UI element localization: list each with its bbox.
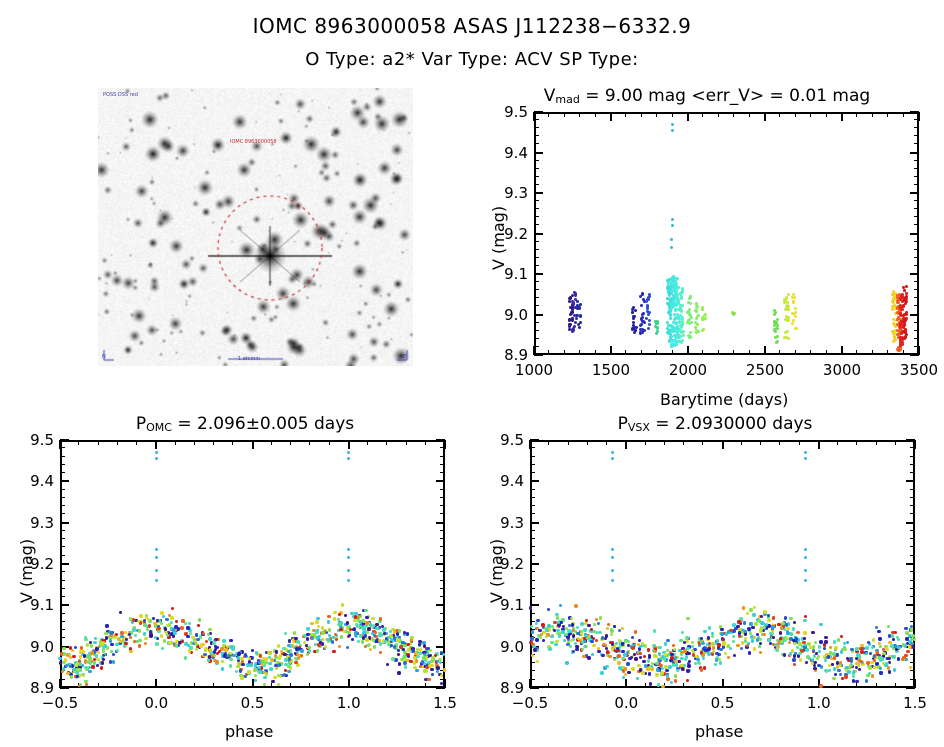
axis-minor-tick <box>910 472 915 473</box>
phase-point <box>143 619 146 622</box>
phase-point <box>143 632 146 635</box>
axis-minor-tick <box>534 330 539 331</box>
phase-point <box>840 650 843 653</box>
phase-point <box>379 617 382 620</box>
axis-minor-tick <box>810 112 811 117</box>
phase-point <box>803 646 806 649</box>
phase-point <box>811 631 814 634</box>
lightcurve-point <box>575 317 578 320</box>
axis-minor-tick <box>914 119 919 120</box>
phase-point <box>91 665 94 668</box>
phase-point <box>868 666 871 669</box>
phase-point <box>75 663 78 666</box>
phase-point <box>268 662 271 665</box>
axis-minor-tick <box>914 176 919 177</box>
axis-minor-tick <box>914 160 919 161</box>
axis-minor-tick <box>440 513 445 514</box>
phase-point <box>819 640 822 643</box>
phase-point <box>213 650 216 653</box>
phase-point <box>132 618 135 621</box>
phase-point <box>416 655 419 658</box>
phase-point <box>69 656 72 659</box>
phase-point <box>648 666 651 669</box>
lightcurve-point <box>682 330 685 333</box>
axis-minor-tick <box>534 216 539 217</box>
axis-minor-tick <box>579 112 580 117</box>
axis-minor-tick <box>914 127 919 128</box>
phase-point <box>776 646 779 649</box>
axis-minor-tick <box>914 216 919 217</box>
axis-tick <box>155 679 157 688</box>
phase-point <box>707 652 710 655</box>
axis-minor-tick <box>914 346 919 347</box>
axis-minor-tick <box>530 456 535 457</box>
phase-point <box>125 638 128 641</box>
phase-point <box>406 632 409 635</box>
axis-minor-tick <box>60 464 65 465</box>
axis-tick <box>60 522 69 524</box>
axis-minor-tick <box>664 440 665 445</box>
phase-point <box>703 630 706 633</box>
axis-minor-tick <box>530 662 535 663</box>
phase-point <box>138 629 141 632</box>
axis-minor-tick <box>60 456 65 457</box>
phase-point <box>617 654 620 657</box>
phase-point <box>288 657 291 660</box>
phase-point <box>287 670 290 673</box>
phase-point <box>702 653 705 656</box>
axis-tick <box>910 354 919 356</box>
phase-point <box>120 635 123 638</box>
axis-minor-tick <box>625 112 626 117</box>
phase-point <box>658 652 661 655</box>
axis-minor-tick <box>534 208 539 209</box>
phase-point <box>165 618 168 621</box>
lightcurve-point <box>655 332 658 335</box>
axis-minor-tick <box>60 513 65 514</box>
phase-point <box>865 646 868 649</box>
lightcurve-point <box>632 327 635 330</box>
phase-point <box>860 650 863 653</box>
axis-tick <box>530 480 539 482</box>
axis-minor-tick <box>914 330 919 331</box>
phase-point <box>86 643 89 646</box>
phase-point <box>644 644 647 647</box>
phase-point <box>277 644 280 647</box>
axis-minor-tick <box>595 350 596 355</box>
y-tick-label: 9.0 <box>16 638 54 656</box>
axis-minor-tick <box>826 112 827 117</box>
phase-point <box>90 644 93 647</box>
phase-point <box>310 622 313 625</box>
phase-point <box>170 641 173 644</box>
phase-point <box>621 657 624 660</box>
phase-point <box>340 635 343 638</box>
phase-point <box>715 652 718 655</box>
phase-point <box>729 629 732 632</box>
phase-point <box>681 667 684 670</box>
axis-tick <box>610 112 612 121</box>
axis-tick <box>534 111 543 113</box>
phase-point <box>849 657 852 660</box>
phase-point <box>621 642 624 645</box>
axis-minor-tick <box>895 683 896 688</box>
phase-point <box>798 652 801 655</box>
phase-point <box>404 665 407 668</box>
axis-minor-tick <box>232 683 233 688</box>
phase-point <box>258 671 261 674</box>
axis-minor-tick <box>579 350 580 355</box>
phase-point <box>403 658 406 661</box>
phase-point <box>157 627 160 630</box>
lightcurve-point <box>897 349 900 352</box>
phase-point <box>732 623 735 626</box>
phase-point <box>577 637 580 640</box>
phase-outlier-point <box>347 569 350 572</box>
phase-point <box>311 636 314 639</box>
axis-minor-tick <box>406 683 407 688</box>
phase-point <box>545 629 548 632</box>
axis-minor-tick <box>910 546 915 547</box>
y-tick-label: 8.9 <box>486 679 524 697</box>
phase-point <box>852 671 855 674</box>
phase-point <box>627 671 630 674</box>
axis-minor-tick <box>910 588 915 589</box>
axis-tick <box>60 480 69 482</box>
axis-minor-tick <box>213 440 214 445</box>
lightcurve-title-v: V <box>544 86 556 106</box>
axis-tick <box>436 480 445 482</box>
axis-minor-tick <box>741 440 742 445</box>
axis-minor-tick <box>910 530 915 531</box>
lightcurve-point <box>680 297 683 300</box>
phase-point <box>82 674 85 677</box>
phase-point <box>892 638 895 641</box>
phase-point <box>656 669 659 672</box>
axis-minor-tick <box>564 350 565 355</box>
phase-point <box>365 616 368 619</box>
x-tick-label: 1.0 <box>797 694 841 712</box>
phase-point <box>652 644 655 647</box>
phase-point <box>208 628 211 631</box>
phase-point <box>909 666 912 669</box>
axis-minor-tick <box>406 440 407 445</box>
lightcurve-point <box>787 337 790 340</box>
y-tick-label: 9.1 <box>486 596 524 614</box>
phase-point <box>419 665 422 668</box>
phase-point <box>427 678 430 681</box>
phase-point <box>789 652 792 655</box>
axis-tick <box>625 440 627 449</box>
lightcurve-point <box>572 302 575 305</box>
phase-point <box>839 673 842 676</box>
phase-point <box>648 654 651 657</box>
axis-minor-tick <box>914 241 919 242</box>
axis-minor-tick <box>440 621 445 622</box>
phase-point <box>811 658 814 661</box>
axis-minor-tick <box>530 505 535 506</box>
phase-point <box>128 633 131 636</box>
phase-point <box>263 676 266 679</box>
axis-minor-tick <box>534 305 539 306</box>
phase-point <box>617 661 620 664</box>
phase-point <box>680 664 683 667</box>
axis-minor-tick <box>60 629 65 630</box>
phase-point <box>391 657 394 660</box>
phase-point <box>100 666 103 669</box>
phase-point <box>440 651 443 654</box>
phase-point <box>758 619 761 622</box>
phase-point <box>296 640 299 643</box>
axis-tick <box>60 604 69 606</box>
phase-point <box>674 679 677 682</box>
phase-point <box>813 667 816 670</box>
phase-point <box>204 647 207 650</box>
phase-omc-title-p-sub: OMC <box>146 421 172 434</box>
phase-point <box>666 677 669 680</box>
phase-point <box>641 671 644 674</box>
axis-tick <box>436 563 445 565</box>
phase-point <box>605 665 608 668</box>
phase-point <box>873 666 876 669</box>
lightcurve-point <box>899 307 902 310</box>
phase-point <box>188 622 191 625</box>
phase-point <box>908 645 911 648</box>
lightcurve-point <box>904 330 907 333</box>
axis-minor-tick <box>367 683 368 688</box>
phase-point <box>538 629 541 632</box>
phase-point <box>208 637 211 640</box>
phase-point <box>174 625 177 628</box>
axis-minor-tick <box>914 168 919 169</box>
axis-minor-tick <box>856 350 857 355</box>
phase-point <box>672 663 675 666</box>
phase-omc-title-rest: = 2.096±0.005 days <box>172 414 354 434</box>
axis-minor-tick <box>910 447 915 448</box>
lightcurve-point <box>639 324 642 327</box>
axis-minor-tick <box>625 350 626 355</box>
phase-point <box>580 632 583 635</box>
phase-point <box>884 645 887 648</box>
phase-point <box>550 635 553 638</box>
axis-minor-tick <box>232 440 233 445</box>
phase-point <box>703 666 706 669</box>
lightcurve-point <box>682 334 685 337</box>
axis-minor-tick <box>548 112 549 117</box>
phase-point <box>231 646 234 649</box>
phase-point <box>324 645 327 648</box>
phase-point <box>608 655 611 658</box>
sky-image-panel: POSS DSS red IOMC 8963000058 N E 1 arcmi… <box>98 88 413 366</box>
phase-point <box>384 640 387 643</box>
phase-point <box>163 639 166 642</box>
axis-tick <box>530 522 539 524</box>
phase-point <box>93 641 96 644</box>
lightcurve-outlier-point <box>671 224 674 227</box>
phase-point <box>719 661 722 664</box>
axis-tick <box>910 192 919 194</box>
phase-point <box>655 662 658 665</box>
axis-tick <box>625 679 627 688</box>
axis-minor-tick <box>60 505 65 506</box>
phase-point <box>888 670 891 673</box>
phase-point <box>743 621 746 624</box>
phase-point <box>701 642 704 645</box>
lightcurve-point <box>786 304 789 307</box>
phase-point <box>273 676 276 679</box>
axis-minor-tick <box>779 112 780 117</box>
axis-minor-tick <box>440 489 445 490</box>
phase-point <box>819 684 822 687</box>
lightcurve-frame <box>534 112 919 355</box>
axis-minor-tick <box>271 683 272 688</box>
sky-image-n-label: N <box>102 354 106 360</box>
phase-point <box>658 646 661 649</box>
y-tick-label: 9.0 <box>490 306 528 324</box>
axis-minor-tick <box>910 513 915 514</box>
axis-minor-tick <box>645 440 646 445</box>
phase-point <box>803 637 806 640</box>
lightcurve-point <box>579 321 582 324</box>
phase-point <box>79 662 82 665</box>
axis-minor-tick <box>98 440 99 445</box>
axis-minor-tick <box>760 683 761 688</box>
axis-minor-tick <box>440 555 445 556</box>
phase-point <box>587 656 590 659</box>
sky-image-corner-label: POSS DSS red <box>103 92 138 98</box>
axis-minor-tick <box>914 135 919 136</box>
x-tick-label: 2500 <box>743 361 787 379</box>
phase-point <box>749 608 752 611</box>
phase-point <box>789 617 792 620</box>
lightcurve-point <box>787 308 790 311</box>
phase-point <box>844 675 847 678</box>
phase-point <box>105 624 108 627</box>
phase-point <box>824 636 827 639</box>
phase-point <box>106 646 109 649</box>
axis-minor-tick <box>440 530 445 531</box>
axis-minor-tick <box>440 679 445 680</box>
lightcurve-point <box>689 335 692 338</box>
phase-point <box>407 648 410 651</box>
phase-point <box>338 622 341 625</box>
axis-minor-tick <box>60 447 65 448</box>
axis-tick <box>687 346 689 355</box>
axis-minor-tick <box>914 297 919 298</box>
axis-tick <box>818 440 820 449</box>
axis-minor-tick <box>117 683 118 688</box>
phase-point <box>212 642 215 645</box>
phase-point <box>333 617 336 620</box>
lightcurve-point <box>899 336 902 339</box>
phase-point <box>365 638 368 641</box>
phase-point <box>817 664 820 667</box>
axis-tick <box>252 440 254 449</box>
axis-tick <box>436 522 445 524</box>
axis-minor-tick <box>914 208 919 209</box>
x-tick-label: 3500 <box>897 361 941 379</box>
axis-tick <box>610 346 612 355</box>
phase-point <box>144 642 147 645</box>
phase-point <box>631 667 634 670</box>
axis-minor-tick <box>810 350 811 355</box>
axis-minor-tick <box>914 257 919 258</box>
phase-point <box>628 657 631 660</box>
y-tick-label: 9.4 <box>16 472 54 490</box>
axis-minor-tick <box>386 440 387 445</box>
phase-point <box>375 627 378 630</box>
phase-point <box>180 626 183 629</box>
axis-minor-tick <box>645 683 646 688</box>
axis-minor-tick <box>60 613 65 614</box>
phase-point <box>833 656 836 659</box>
axis-tick <box>687 112 689 121</box>
axis-minor-tick <box>795 350 796 355</box>
axis-minor-tick <box>440 637 445 638</box>
phase-point <box>71 649 74 652</box>
axis-minor-tick <box>440 629 445 630</box>
phase-outlier-point <box>155 451 158 454</box>
phase-point <box>94 637 97 640</box>
axis-minor-tick <box>60 588 65 589</box>
phase-point <box>832 677 835 680</box>
lightcurve-title: Vmad = 9.00 mag <err_V> = 0.01 mag <box>492 86 922 106</box>
phase-point <box>199 645 202 648</box>
lightcurve-point <box>679 307 682 310</box>
axis-minor-tick <box>534 265 539 266</box>
axis-minor-tick <box>910 670 915 671</box>
phase-point <box>287 650 290 653</box>
phase-point <box>559 604 562 607</box>
phase-point <box>86 654 89 657</box>
phase-point <box>756 638 759 641</box>
x-tick-label: 0.5 <box>701 694 745 712</box>
phase-point <box>655 673 658 676</box>
axis-tick <box>910 273 919 275</box>
lightcurve-point <box>687 310 690 313</box>
axis-minor-tick <box>60 555 65 556</box>
phase-point <box>535 638 538 641</box>
phase-point <box>592 644 595 647</box>
y-tick-label: 9.2 <box>16 555 54 573</box>
lightcurve-point <box>578 306 581 309</box>
phase-point <box>818 645 821 648</box>
phase-point <box>331 636 334 639</box>
phase-point <box>229 664 232 667</box>
phase-point <box>647 659 650 662</box>
page-subtitle: O Type: a2* Var Type: ACV SP Type: <box>0 49 944 70</box>
sky-image-e-label: E <box>403 354 406 360</box>
phase-point <box>315 620 318 623</box>
axis-minor-tick <box>60 546 65 547</box>
phase-point <box>737 620 740 623</box>
phase-outlier-point <box>804 579 807 582</box>
lightcurve-point <box>795 327 798 330</box>
phase-point <box>837 638 840 641</box>
phase-point <box>155 642 158 645</box>
y-tick-label: 8.9 <box>16 679 54 697</box>
axis-tick <box>534 152 543 154</box>
phase-point <box>605 634 608 637</box>
phase-point <box>533 648 536 651</box>
phase-point <box>834 646 837 649</box>
axis-minor-tick <box>856 440 857 445</box>
axis-tick <box>534 314 543 316</box>
page-title: IOMC 8963000058 ASAS J112238−6332.9 <box>0 14 944 38</box>
phase-point <box>62 647 65 650</box>
phase-point <box>278 656 281 659</box>
phase-point <box>170 616 173 619</box>
